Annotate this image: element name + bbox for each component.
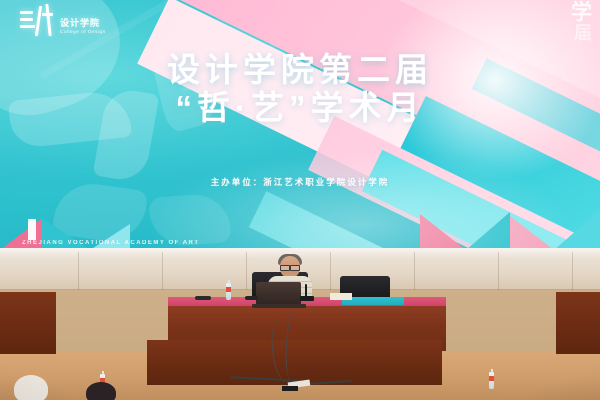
wall-panel-line xyxy=(330,252,331,290)
laptop-keyboard xyxy=(252,304,306,308)
title-line-1: 设计学院第二届 xyxy=(0,52,600,88)
wall-panel-line xyxy=(162,252,163,290)
zhe-character-logo-icon xyxy=(20,4,54,38)
screen-edge-text: 学 届 xyxy=(571,2,594,43)
college-logo: 设计学院 College of Design xyxy=(20,4,106,38)
logo-text-cn: 设计学院 xyxy=(60,19,106,28)
side-panel-left xyxy=(0,292,56,354)
logo-text: 设计学院 College of Design xyxy=(60,19,106,39)
edge-text-top: 学 xyxy=(571,2,594,24)
dark-object xyxy=(195,296,211,300)
screen-title-block: 设计学院第二届 “哲·艺”学术月 xyxy=(0,52,600,127)
audience-head xyxy=(86,382,116,400)
water-bottle xyxy=(226,283,231,300)
audience-head xyxy=(14,375,48,400)
logo-text-en: College of Design xyxy=(60,30,106,35)
wall-panel-line xyxy=(572,252,573,290)
presenter-glasses xyxy=(280,265,300,269)
projector-hotspot xyxy=(150,150,570,250)
water-bottle xyxy=(489,372,494,389)
edge-text-bottom: 届 xyxy=(571,24,594,43)
title-line-2: “哲·艺”学术月 xyxy=(0,88,600,128)
wall-panel-line xyxy=(246,252,247,290)
decor-triangle xyxy=(90,224,130,250)
laptop-screen xyxy=(256,282,301,306)
wall-panel-line xyxy=(78,252,79,290)
power-strip xyxy=(282,386,298,391)
wall-panel-line xyxy=(498,252,499,290)
dark-object xyxy=(245,296,258,300)
host-organization-line: 主办单位：浙江艺术职业学院设计学院 xyxy=(0,176,600,188)
footer-english-text: ZHEJIANG VOCATIONAL ACADEMY OF ART xyxy=(22,240,200,246)
footer-bar-mark xyxy=(28,219,36,240)
desk-microphone xyxy=(300,296,314,301)
desk-microphone xyxy=(305,284,307,297)
wall-panel-line xyxy=(414,252,415,290)
projection-screen: 设计学院 College of Design 学 届 设计学院第二届 “哲·艺”… xyxy=(0,0,600,250)
paper-stack xyxy=(330,293,352,300)
photo-scene: 设计学院 College of Design 学 届 设计学院第二届 “哲·艺”… xyxy=(0,0,600,400)
side-panel-right xyxy=(556,292,600,354)
